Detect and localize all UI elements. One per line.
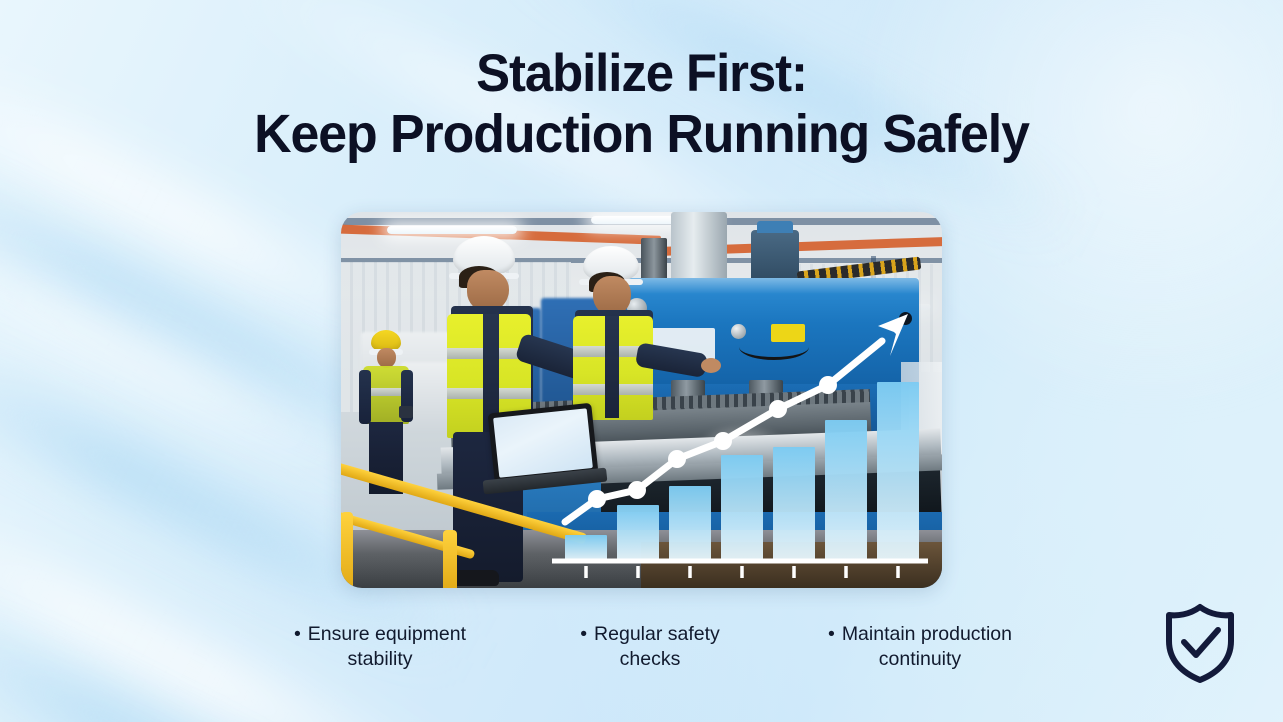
slide-title: Stabilize First: Keep Production Running… (26, 44, 1258, 164)
railing-post (341, 512, 353, 588)
bullet-text-line-2: checks (620, 648, 681, 670)
bullet-text-line-1: Ensure equipment (308, 623, 466, 645)
worker-hand (701, 358, 721, 373)
factory-photo-card (341, 212, 942, 588)
title-line-1: Stabilize First: (476, 44, 807, 103)
worker-tablet (399, 406, 413, 418)
bullet-marker: • (294, 623, 301, 645)
shield-check-icon (1163, 603, 1237, 683)
worker-sleeve (359, 370, 371, 424)
cnc-ram-column (671, 212, 727, 286)
bullet-item: •Maintain production continuity (795, 622, 1045, 672)
bullet-item: •Regular safety checks (525, 622, 775, 672)
background-streak (0, 216, 385, 493)
worker-head (377, 348, 396, 368)
bullet-text-line-2: continuity (879, 648, 961, 670)
slide-canvas: Stabilize First: Keep Production Running… (0, 0, 1283, 722)
railing-post (443, 530, 457, 588)
bullet-text-line-1: Regular safety (594, 623, 720, 645)
bullet-text-line-1: Maintain production (842, 623, 1012, 645)
cnc-port-hole (899, 312, 912, 325)
bullet-row-1: •Ensure equipment (255, 622, 505, 647)
vest-opening (605, 316, 619, 418)
bullet-item: •Ensure equipment stability (255, 622, 505, 672)
ceiling-light (387, 226, 517, 234)
bullet-row-1: •Maintain production (795, 622, 1045, 647)
bullet-marker: • (828, 623, 835, 645)
title-line-2: Keep Production Running Safely (26, 104, 1258, 164)
bullet-marker: • (580, 623, 587, 645)
bullet-row-1: •Regular safety (525, 622, 775, 647)
cnc-hose (739, 334, 809, 360)
cnc-motor (751, 230, 799, 284)
floor-pallet (641, 542, 942, 588)
bullet-text-line-2: stability (347, 648, 412, 670)
bullet-list: •Ensure equipment stability •Regular saf… (255, 622, 1045, 672)
